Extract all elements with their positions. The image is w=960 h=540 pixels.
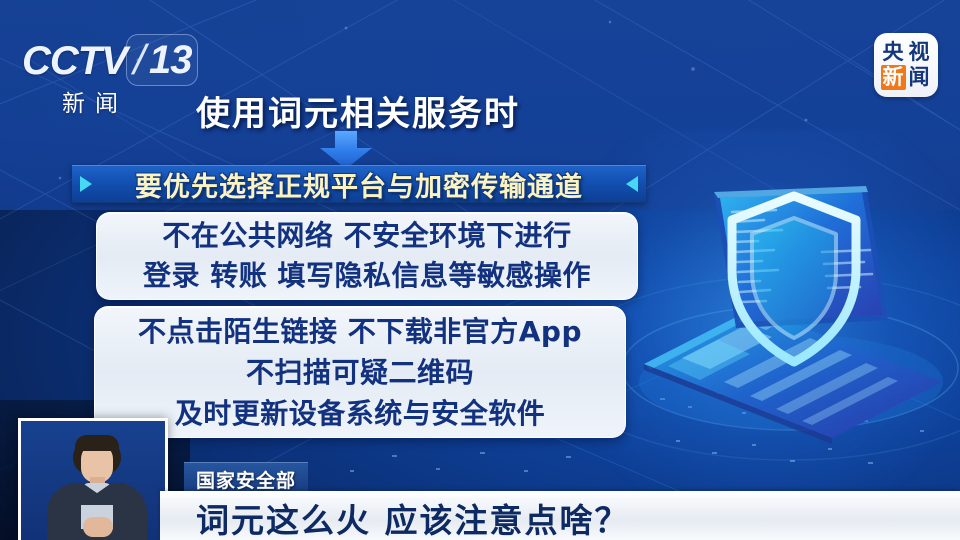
news-logo-line-2: 新 闻 [881, 65, 932, 90]
cctv-news-logo: 央 视 新 闻 [874, 33, 938, 97]
news-logo-char-shi: 视 [907, 40, 932, 65]
laptop-shield-illustration [626, 168, 960, 444]
info-card-1-line-2: 登录 转账 填写隐私信息等敏感操作 [143, 256, 591, 296]
info-card-2-line-2: 不扫描可疑二维码 [246, 352, 474, 393]
info-card-2-line-1: 不点击陌生链接 不下载非官方App [138, 311, 582, 352]
arrow-down-icon [318, 131, 374, 169]
news-logo-char-yang: 央 [881, 40, 906, 65]
info-card-2-line-3: 及时更新设备系统与安全软件 [175, 393, 546, 434]
news-logo-line-1: 央 视 [881, 40, 932, 65]
lower-third-kicker-text: 国家安全部 [196, 470, 296, 492]
graphic-headline: 使用词元相关服务时 [196, 86, 520, 135]
anchor-fringe [75, 435, 119, 451]
cctv-13-logo: CCTV / 13 新闻 [18, 38, 188, 116]
info-card-1: 不在公共网络 不安全环境下进行 登录 转账 填写隐私信息等敏感操作 [96, 212, 638, 300]
info-card-1-line-1: 不在公共网络 不安全环境下进行 [162, 216, 571, 256]
cctv-channel-caption: 新闻 [62, 84, 128, 118]
lower-third-title: 词元这么火 应该注意点啥？ [196, 494, 630, 540]
anchor-video-box [18, 418, 168, 540]
key-message-banner: 要优先选择正规平台与加密传输通道 [72, 165, 646, 203]
triangle-right-icon [80, 176, 92, 192]
info-card-2: 不点击陌生链接 不下载非官方App 不扫描可疑二维码 及时更新设备系统与安全软件 [94, 306, 626, 438]
news-logo-char-wen: 闻 [907, 65, 932, 90]
broadcast-screen: CCTV / 13 新闻 央 视 新 闻 使用词元相关服务时 要优先选择正规平台… [0, 0, 960, 540]
anchor-hands [83, 517, 113, 537]
cctv-wordmark: CCTV [22, 38, 127, 84]
key-message-text: 要优先选择正规平台与加密传输通道 [92, 165, 626, 204]
news-logo-char-xin: 新 [881, 65, 906, 90]
cctv-channel-number: 13 [149, 38, 192, 83]
